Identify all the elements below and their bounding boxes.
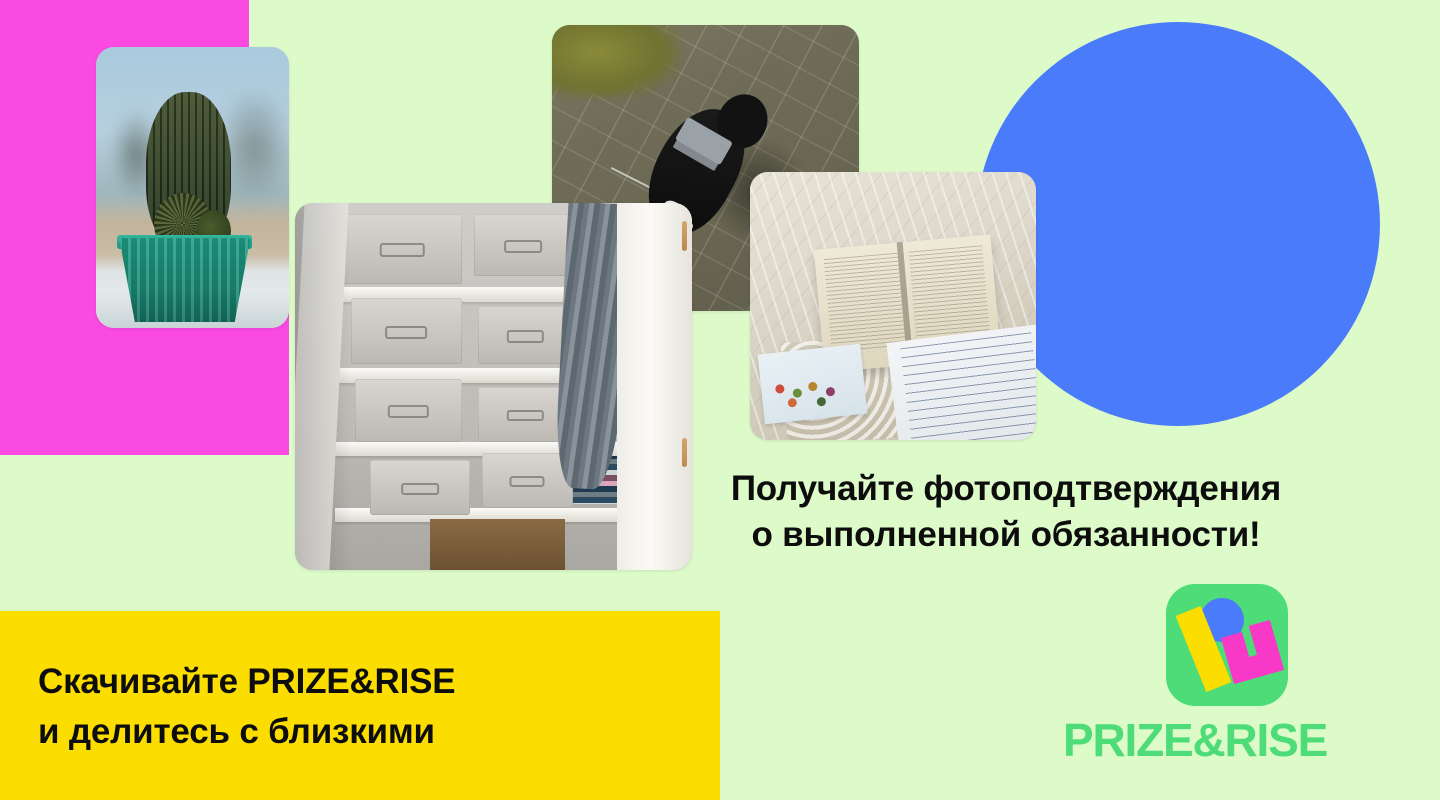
storage-box-7	[370, 460, 469, 515]
closet-photo	[295, 203, 692, 570]
candy-1	[776, 384, 786, 394]
blue-circle	[976, 22, 1380, 426]
storage-box-4	[478, 306, 573, 365]
closet-photo-content	[295, 203, 692, 570]
banner-line-2: и делитесь с близкими	[38, 707, 455, 757]
logo-check-arm	[1249, 620, 1280, 659]
candy-4	[826, 387, 836, 397]
storage-box-3	[351, 298, 462, 364]
closet-inner-shadow	[295, 203, 351, 570]
brand-wordmark: PRIZE&RISE	[1063, 713, 1327, 767]
green-pot	[119, 238, 250, 322]
storage-box-1	[343, 214, 462, 284]
candy-2	[793, 388, 803, 398]
notebook-photo	[750, 172, 1036, 440]
cactus-photo	[96, 47, 289, 328]
notebook-photo-content	[750, 172, 1036, 440]
storage-box-2	[474, 214, 573, 276]
cactus-photo-content	[96, 47, 289, 328]
storage-box-5	[355, 379, 462, 441]
banner-line-1: Скачивайте PRIZE&RISE	[38, 657, 455, 707]
candy-6	[816, 396, 826, 406]
notebook-ruled-lines	[900, 332, 1036, 440]
promo-canvas: Получайте фотоподтверждения о выполненно…	[0, 0, 1440, 800]
candy-bag	[758, 344, 868, 424]
headline-line-2: о выполненной обязанности!	[706, 512, 1306, 558]
moss-patch	[552, 25, 681, 99]
banner-copy: Скачивайте PRIZE&RISE и делитесь с близк…	[38, 657, 455, 756]
door-handle-top	[682, 221, 687, 250]
closet-door-right	[617, 203, 692, 570]
headline: Получайте фотоподтверждения о выполненно…	[706, 466, 1306, 558]
prize-and-rise-app-icon[interactable]	[1166, 584, 1288, 706]
headline-line-1: Получайте фотоподтверждения	[731, 469, 1281, 508]
candy-5	[788, 398, 798, 408]
handwritten-notebook	[886, 324, 1036, 440]
door-handle-bottom	[682, 438, 687, 467]
candy-3	[809, 382, 819, 392]
closet-floor	[430, 519, 565, 570]
